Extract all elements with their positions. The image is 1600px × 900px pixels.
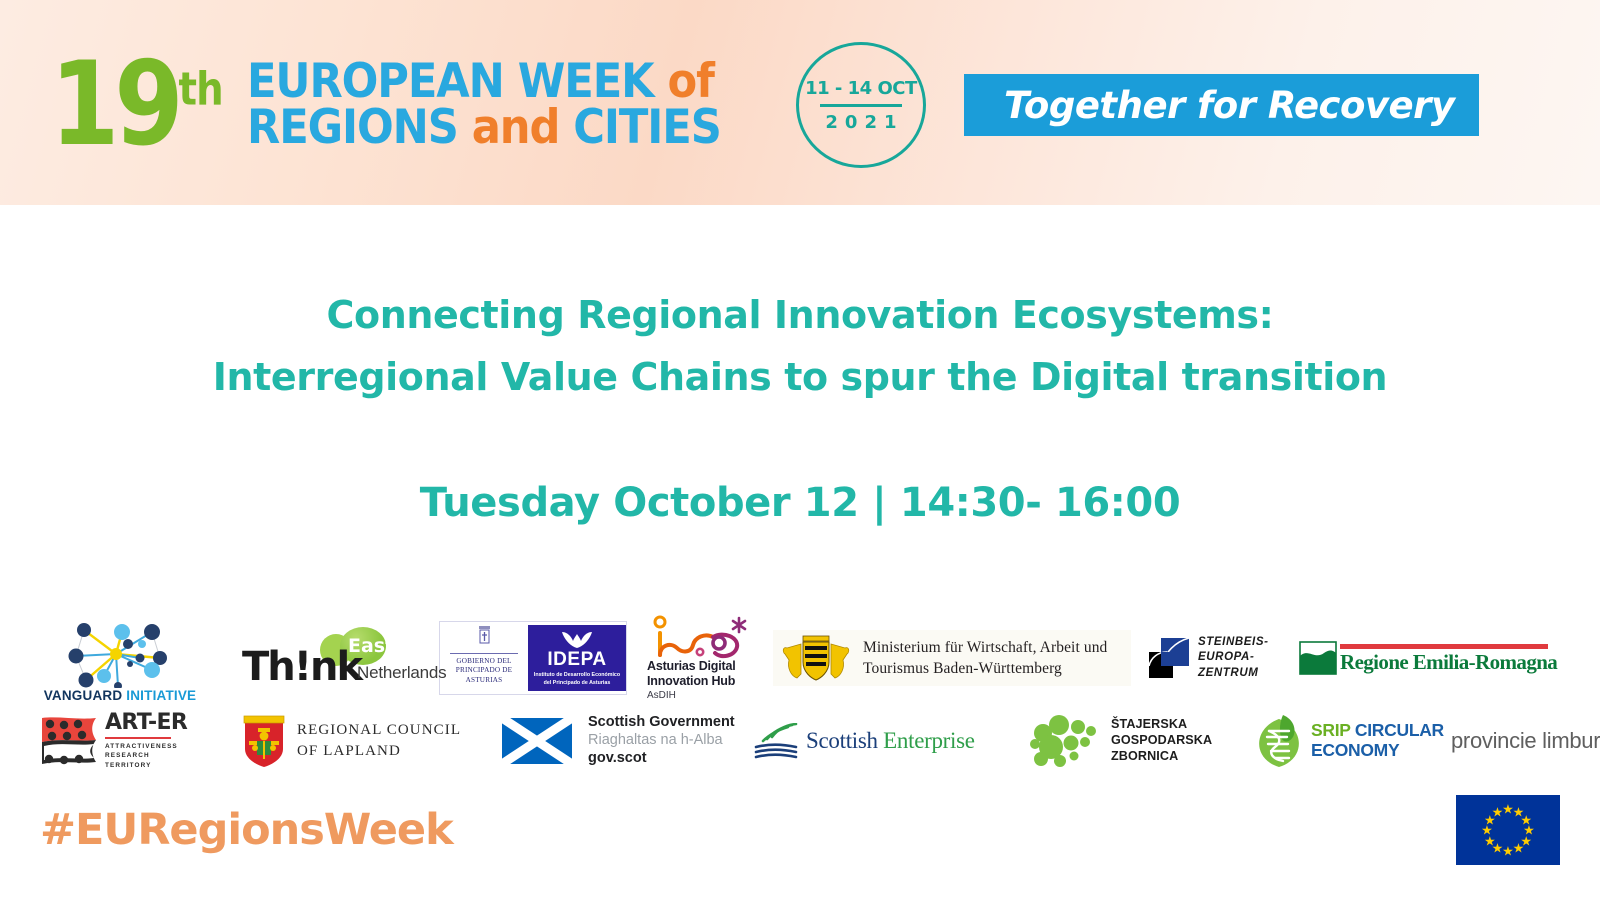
edition-number: 19th [50,47,223,163]
idepa-wordmark: IDEPA [547,650,606,669]
art-er-wordmark: ART-ER [105,712,187,734]
date-badge-divider [820,104,902,107]
asdih-acronym: AsDIH [647,690,676,701]
partner-logo-row-2: ART-ER ATTRACTIVENESS RESEARCH TERRITORY… [40,705,1600,777]
idepa-subtitle: Instituto de Desarrollo Económico del Pr… [534,672,620,686]
logo-stajerska-gospodarska-zbornica: ŠTAJERSKA GOSPODARSKA ZBORNICA [1029,713,1239,769]
logo-asturias-digital-innovation-hub: Asturias Digital Innovation Hub AsDIH [647,615,755,701]
scottish-word: Scottish [806,728,883,753]
footer-row: #EURegionsWeek ★★★★★★★★★★★★ [40,790,1560,870]
vanguard-word: VANGUARD [44,688,127,703]
stajerska-label: ŠTAJERSKA GOSPODARSKA ZBORNICA [1111,717,1212,765]
stajerska-bubbles-icon [1029,713,1103,769]
art-er-label-block: ART-ER ATTRACTIVENESS RESEARCH TERRITORY [105,712,187,771]
date-badge-year: 2021 [818,112,903,133]
economy-word: ECONOMY [1311,741,1444,761]
logo-gobierno-asturias-idepa: GOBIERNO DEL PRINCIPADO DE ASTURIAS IDEP… [439,621,627,695]
think-wordmark: Th!nk [242,647,361,687]
netherlands-label: Netherlands [357,663,446,683]
session-datetime: Tuesday October 12 | 14:30- 16:00 [0,480,1600,526]
asdih-abstract-mark-icon [647,615,747,659]
wordmark-line2-regions: REGIONS [247,100,472,155]
eu-flag-star: ★ [1492,805,1504,818]
scotgov-label: Scottish Government Riaghaltas na h-Alba… [588,714,735,767]
steinbeis-label: STEINBEIS- EUROPA- ZENTRUM [1198,635,1269,681]
saltire-flag-icon [502,718,572,764]
east-badge-label: East [348,635,394,657]
logo-regional-council-of-lapland: REGIONAL COUNCIL OF LAPLAND [243,715,458,767]
event-hashtag: #EURegionsWeek [40,805,453,855]
wordmark-line2-cities: CITIES [573,100,720,155]
scottish-enterprise-mark-icon [754,723,798,759]
partner-logo-row-1: VANGUARD INITIATIVE East Th!nk Netherlan… [40,613,1547,703]
srip-word: SRIP [1311,720,1355,740]
page-title-line-1: Connecting Regional Innovation Ecosystem… [0,285,1600,347]
event-banner: 19th EUROPEAN WEEK of REGIONS and CITIES… [0,0,1600,205]
logo-ministerium-baden-wuerttemberg: Ministerium für Wirtschaft, Arbeit und T… [773,630,1131,686]
emilia-romagna-flag-icon [1299,641,1337,675]
network-nodes-icon [56,614,184,688]
srip-leaf-dna-icon [1253,713,1305,769]
gobierno-divider [450,653,518,654]
event-tagline-text: Together for Recovery [1004,84,1455,127]
session-title-block: Connecting Regional Innovation Ecosystem… [0,285,1600,526]
event-date-badge: 11 - 14 OCT 2021 [796,42,926,168]
initiative-word: INITIATIVE [126,688,196,703]
logo-vanguard-initiative: VANGUARD INITIATIVE [40,614,200,703]
logo-scottish-enterprise: Scottish Enterprise [754,723,999,759]
emilia-romagna-label: Regione Emilia-Romagna [1340,652,1557,673]
art-er-divider [105,737,171,739]
event-wordmark: EUROPEAN WEEK of REGIONS and CITIES [247,59,762,151]
logo-think-east-netherlands: East Th!nk Netherlands [242,627,417,689]
gobierno-asturias-block: GOBIERNO DEL PRINCIPADO DE ASTURIAS [440,625,528,692]
gobierno-label: GOBIERNO DEL PRINCIPADO DE ASTURIAS [440,657,528,686]
eu-flag-star: ★ [1513,842,1525,855]
wordmark-line2-and: and [472,100,574,155]
date-badge-days: 11 - 14 OCT [805,78,917,99]
logo-steinbeis-europa-zentrum: STEINBEIS- EUROPA- ZENTRUM [1147,635,1287,681]
baden-wuerttemberg-coat-of-arms-icon [781,634,851,682]
circular-word: CIRCULAR [1355,720,1444,740]
logo-scottish-government: Scottish Government Riaghaltas na h-Alba… [502,714,720,767]
asturias-coat-of-arms-icon [477,625,492,647]
lapland-coat-of-arms-icon [243,715,285,767]
idepa-block: IDEPA Instituto de Desarrollo Económico … [528,625,626,690]
logo-provincie-limburg: provincie limburg [1451,724,1600,758]
scottish-enterprise-label: Scottish Enterprise [806,728,975,754]
logo-art-er: ART-ER ATTRACTIVENESS RESEARCH TERRITORY [40,712,195,771]
lapland-label: REGIONAL COUNCIL OF LAPLAND [297,720,461,763]
logo-srip-circular-economy: SRIP CIRCULAR ECONOMY [1253,713,1433,769]
asdih-name: Asturias Digital Innovation Hub [647,659,736,689]
emilia-romagna-label-block: Regione Emilia-Romagna [1340,644,1557,673]
steinbeis-square-mark-icon [1147,636,1191,680]
art-er-mark-icon [40,716,98,766]
srip-label: SRIP CIRCULAR ECONOMY [1311,721,1444,760]
eu-flag-star: ★ [1502,845,1514,858]
enterprise-word: Enterprise [883,728,975,753]
emilia-romagna-red-bar [1340,644,1548,649]
art-er-subtitle: ATTRACTIVENESS RESEARCH TERRITORY [105,742,187,771]
limburg-label: provincie limburg [1451,728,1600,754]
ministerium-label: Ministerium für Wirtschaft, Arbeit und T… [863,637,1107,680]
page-title-line-2: Interregional Value Chains to spur the D… [0,347,1600,409]
idepa-bird-icon [560,629,594,649]
european-union-flag-icon: ★★★★★★★★★★★★ [1456,795,1560,865]
event-tagline: Together for Recovery [964,74,1479,136]
logo-regione-emilia-romagna: Regione Emilia-Romagna [1299,641,1547,675]
logo-vanguard-label: VANGUARD INITIATIVE [44,688,197,703]
